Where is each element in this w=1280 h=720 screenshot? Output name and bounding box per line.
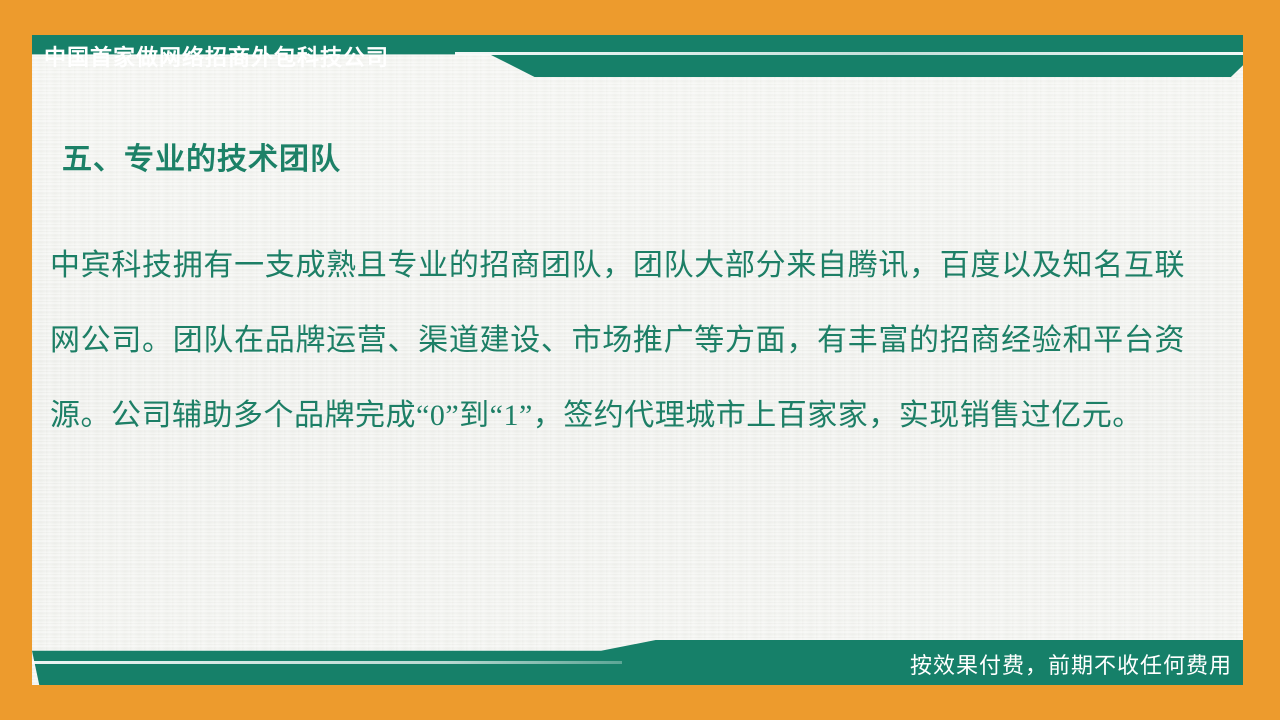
section-heading: 五、专业的技术团队	[62, 134, 341, 178]
header-divider-line	[455, 52, 1243, 55]
footer-tagline: 按效果付费，前期不收任何费用	[910, 643, 1232, 685]
body-paragraph: 中宾科技拥有一支成熟且专业的招商团队，团队大部分来自腾讯，百度以及知名互联网公司…	[50, 228, 1185, 453]
presentation-slide: 中国首家做网络招商外包科技公司 五、专业的技术团队 中宾科技拥有一支成熟且专业的…	[0, 0, 1280, 720]
header-title: 中国首家做网络招商外包科技公司	[44, 35, 389, 77]
footer-divider-line	[32, 661, 622, 664]
